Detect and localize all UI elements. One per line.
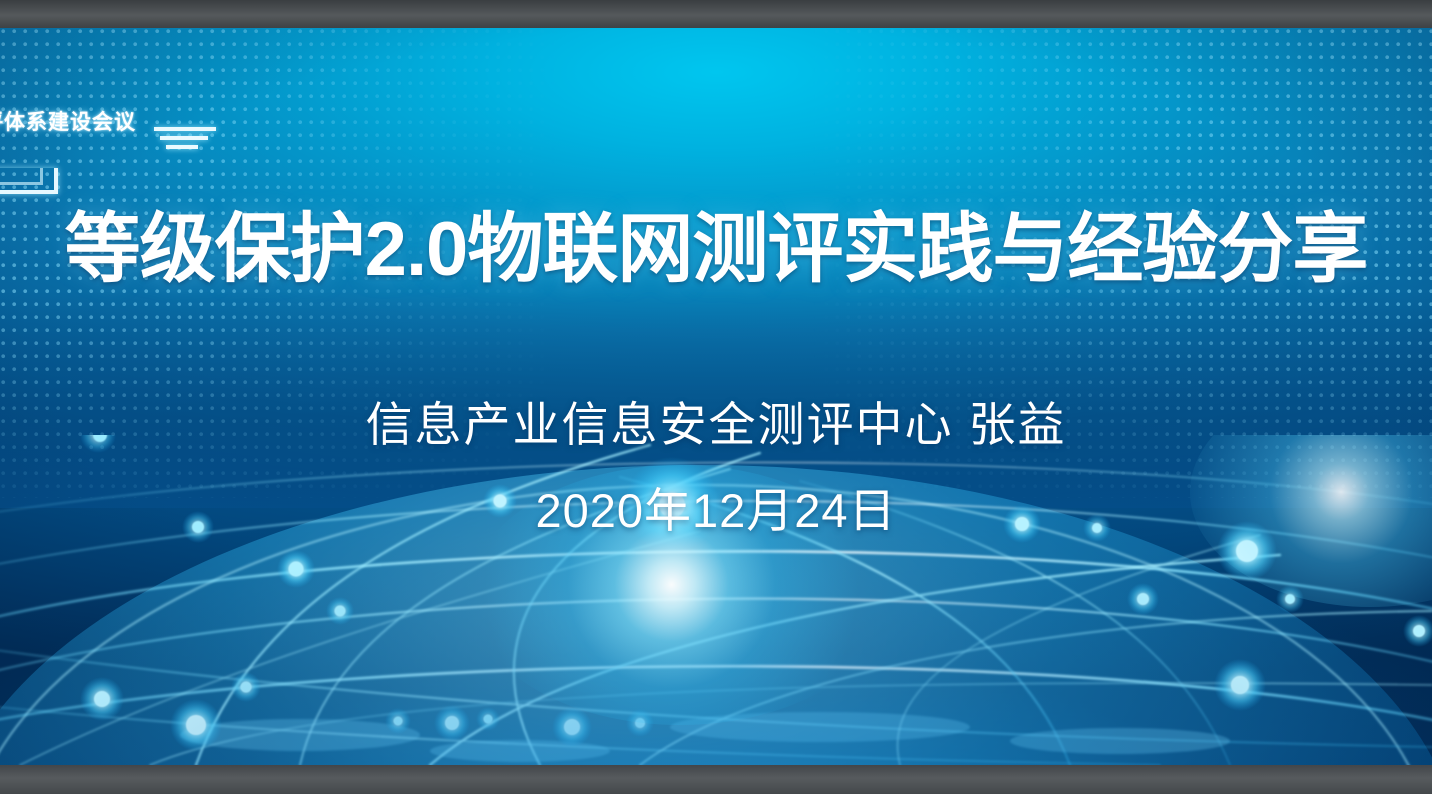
ribbon-speed-line-3 xyxy=(166,145,198,149)
slide-title: 等级保护2.0物联网测评实践与经验分享 xyxy=(0,210,1432,290)
ribbon-speed-line-2 xyxy=(160,136,208,140)
slide-canvas: 评体系建设会议 等级保护2.0物联网测评实践与经验分享 信息产业信息安全测评中心… xyxy=(0,28,1432,765)
slide-date-line: 2020年12月24日 xyxy=(0,472,1432,541)
ribbon-speed-line-1 xyxy=(154,127,216,131)
conference-ribbon-title: 评体系建设会议 xyxy=(0,106,136,136)
ribbon-corner-bracket-inner xyxy=(0,168,43,185)
conference-header-ribbon: 评体系建设会议 xyxy=(0,86,232,160)
slide-presenter-line: 信息产业信息安全测评中心 张益 xyxy=(0,386,1432,455)
window-chrome-top-bar xyxy=(0,0,1432,28)
presentation-slide-viewer: 评体系建设会议 等级保护2.0物联网测评实践与经验分享 信息产业信息安全测评中心… xyxy=(0,0,1432,794)
window-chrome-bottom-bar xyxy=(0,765,1432,794)
